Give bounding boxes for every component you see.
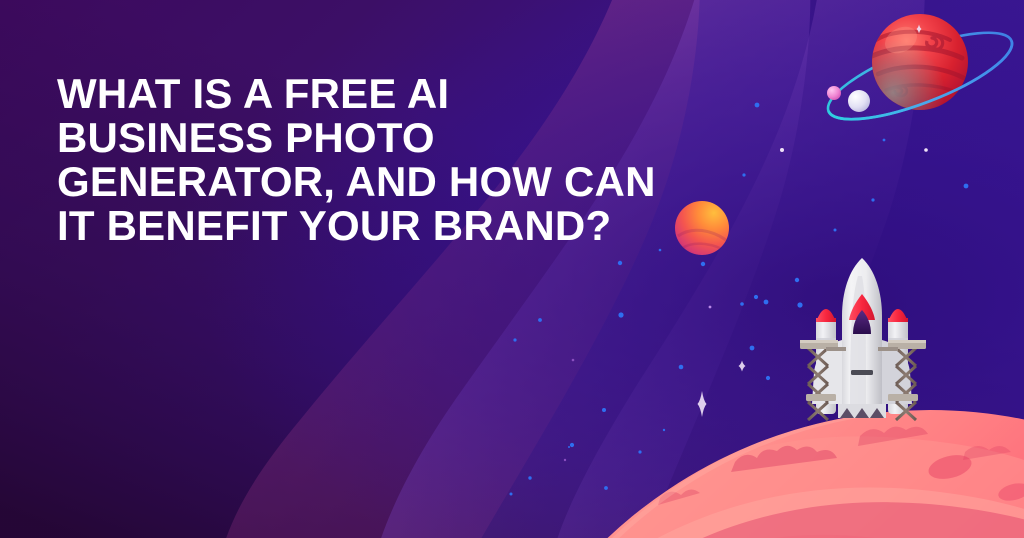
sparkle-0 [698, 391, 707, 417]
sparkle-1 [739, 361, 746, 372]
banner-headline: WHAT IS A FREE AI BUSINESS PHOTO GENERAT… [57, 72, 697, 248]
sparkle-2 [917, 25, 922, 34]
space-banner: WHAT IS A FREE AI BUSINESS PHOTO GENERAT… [0, 0, 1024, 538]
